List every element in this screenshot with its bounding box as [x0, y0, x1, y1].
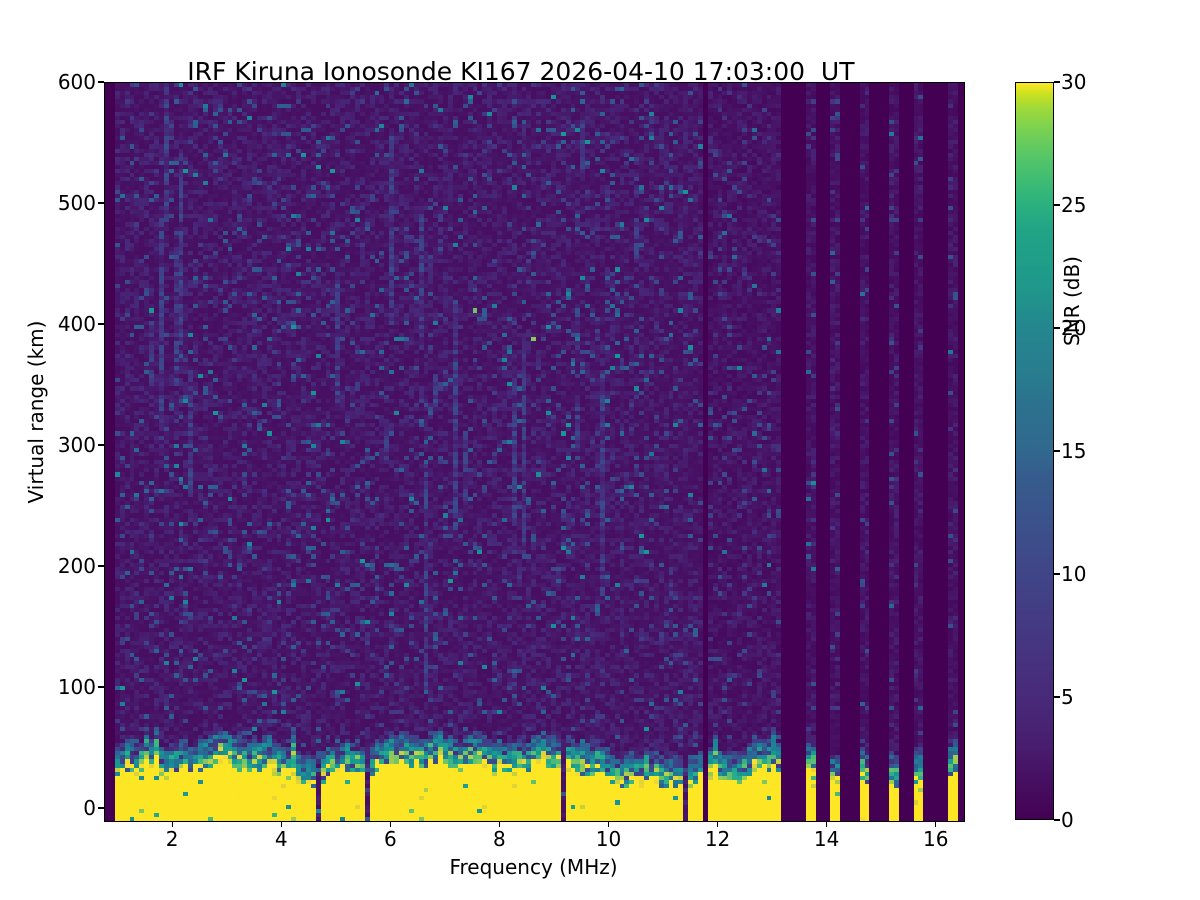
y-tick-mark [98, 81, 104, 82]
colorbar-tick-label: 10 [1061, 564, 1086, 584]
x-tick-label: 16 [876, 828, 996, 850]
y-tick-label: 400 [0, 314, 96, 334]
y-tick-label: 100 [0, 677, 96, 697]
x-axis-label: Frequency (MHz) [104, 855, 963, 879]
x-tick-label: 4 [221, 828, 341, 850]
y-tick-mark [98, 565, 104, 566]
y-axis-label: Virtual range (km) [24, 112, 48, 712]
colorbar-gradient [1015, 82, 1054, 820]
y-tick-mark [98, 807, 104, 808]
y-tick-mark [98, 444, 104, 445]
colorbar: 051015202530 [1015, 82, 1054, 820]
ionogram-figure: IRF Kiruna Ionosonde KI167 2026-04-10 17… [0, 0, 1200, 900]
y-tick-mark [98, 323, 104, 324]
ionogram-heatmap [105, 83, 964, 821]
y-tick-label: 200 [0, 556, 96, 576]
colorbar-label: SNR (dB) [1060, 151, 1084, 451]
y-tick-mark [98, 202, 104, 203]
colorbar-tick-mark [1054, 573, 1060, 574]
colorbar-tick-label: 0 [1061, 810, 1074, 830]
colorbar-tick-label: 30 [1061, 72, 1086, 92]
colorbar-tick-mark [1054, 819, 1060, 820]
y-tick-mark [98, 686, 104, 687]
x-tick-label: 10 [548, 828, 668, 850]
colorbar-tick-mark [1054, 696, 1060, 697]
y-tick-label: 0 [0, 798, 96, 818]
colorbar-tick-label: 5 [1061, 687, 1074, 707]
plot-area [104, 82, 965, 822]
y-tick-label: 500 [0, 193, 96, 213]
x-tick-label: 12 [658, 828, 778, 850]
x-tick-label: 2 [112, 828, 232, 850]
y-tick-label: 600 [0, 72, 96, 92]
x-tick-label: 6 [330, 828, 450, 850]
colorbar-tick-mark [1054, 81, 1060, 82]
x-tick-label: 8 [439, 828, 559, 850]
heatmap-layer [105, 83, 964, 821]
x-tick-label: 14 [767, 828, 887, 850]
y-tick-label: 300 [0, 435, 96, 455]
